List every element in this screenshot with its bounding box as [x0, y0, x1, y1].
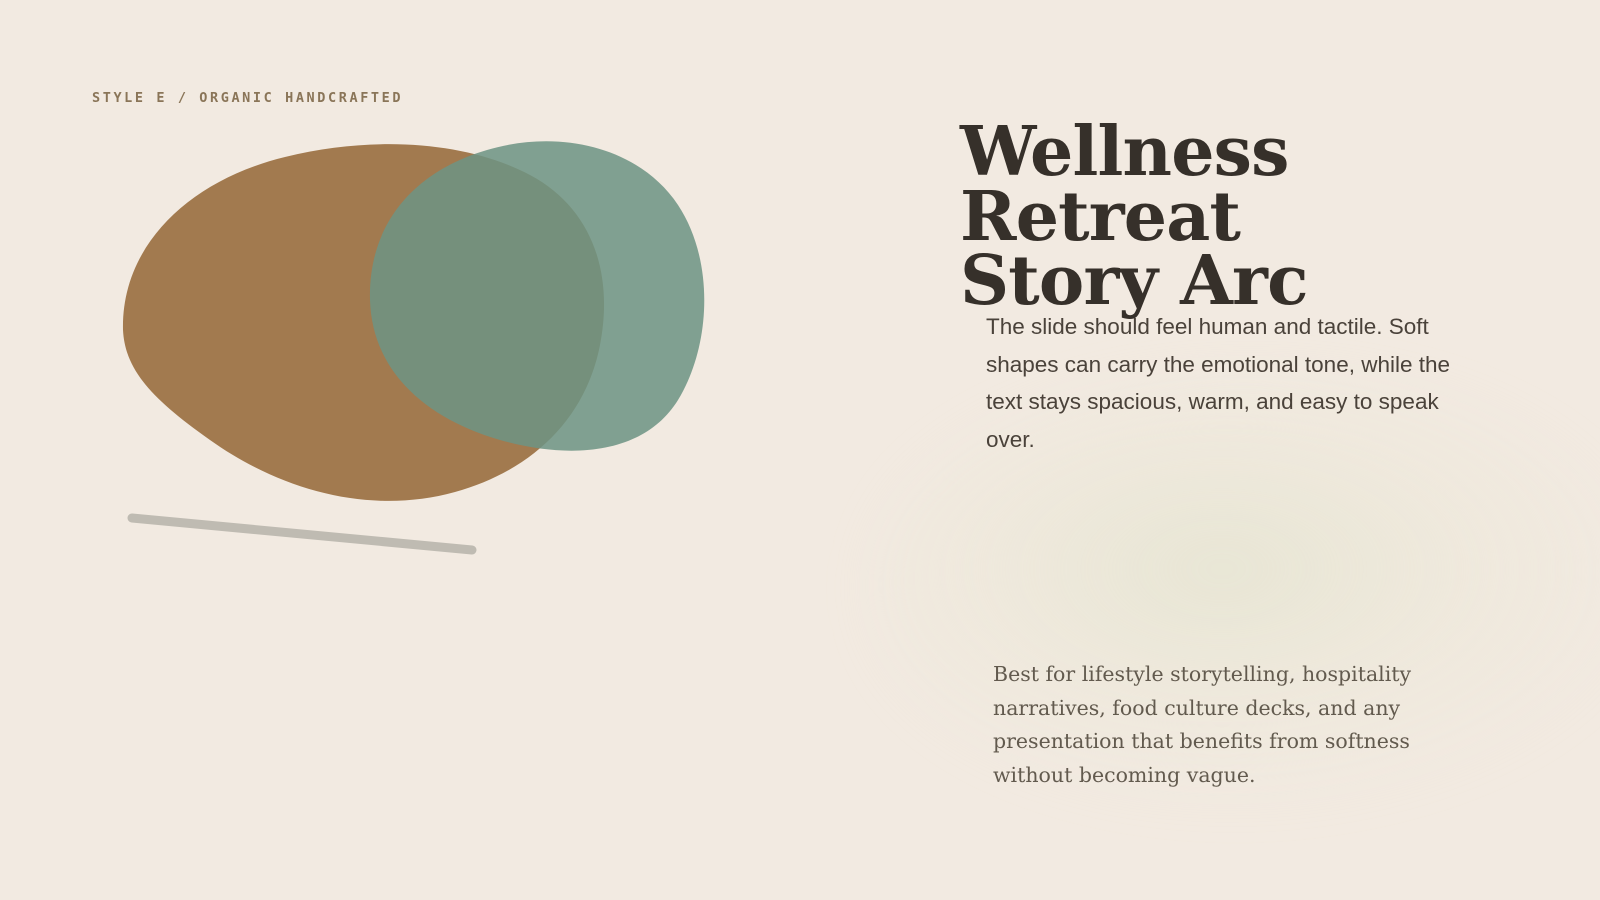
headline-line-3: Story Arc — [960, 249, 1520, 314]
slide-canvas: STYLE E / ORGANIC HANDCRAFTED Wellness R… — [0, 0, 1600, 900]
organic-artwork — [0, 0, 820, 620]
slanted-rule — [132, 518, 472, 550]
lede-paragraph: The slide should feel human and tactile.… — [986, 308, 1456, 459]
usage-note-paragraph: Best for lifestyle storytelling, hospita… — [993, 658, 1413, 792]
headline-line-1: Wellness — [960, 120, 1520, 185]
page-title: Wellness Retreat Story Arc — [960, 120, 1520, 314]
headline-line-2: Retreat — [960, 185, 1520, 250]
content-column: Wellness Retreat Story Arc The slide sho… — [960, 120, 1520, 459]
